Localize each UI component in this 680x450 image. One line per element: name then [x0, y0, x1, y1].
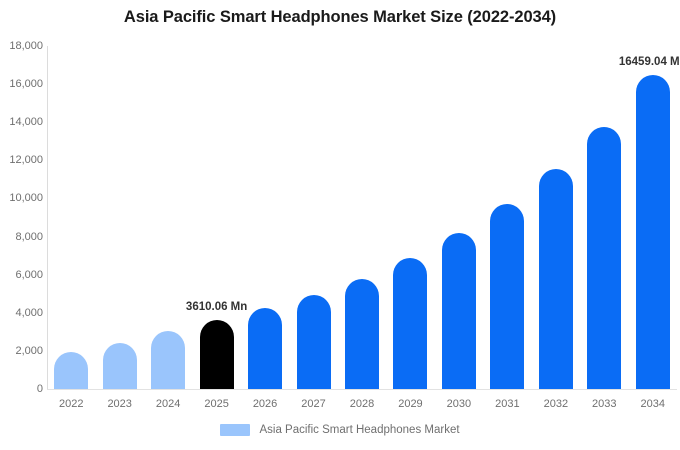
chart-legend: Asia Pacific Smart Headphones Market: [0, 424, 680, 436]
bar-chart: Asia Pacific Smart Headphones Market Siz…: [0, 0, 680, 450]
legend-label-0[interactable]: Asia Pacific Smart Headphones Market: [259, 424, 459, 436]
data-label-2034: 16459.04 Mn: [591, 56, 680, 68]
data-label-2025: 3610.06 Mn: [155, 301, 279, 313]
legend-swatch-0[interactable]: [220, 424, 250, 436]
data-labels-layer: 3610.06 Mn16459.04 Mn: [0, 0, 680, 450]
